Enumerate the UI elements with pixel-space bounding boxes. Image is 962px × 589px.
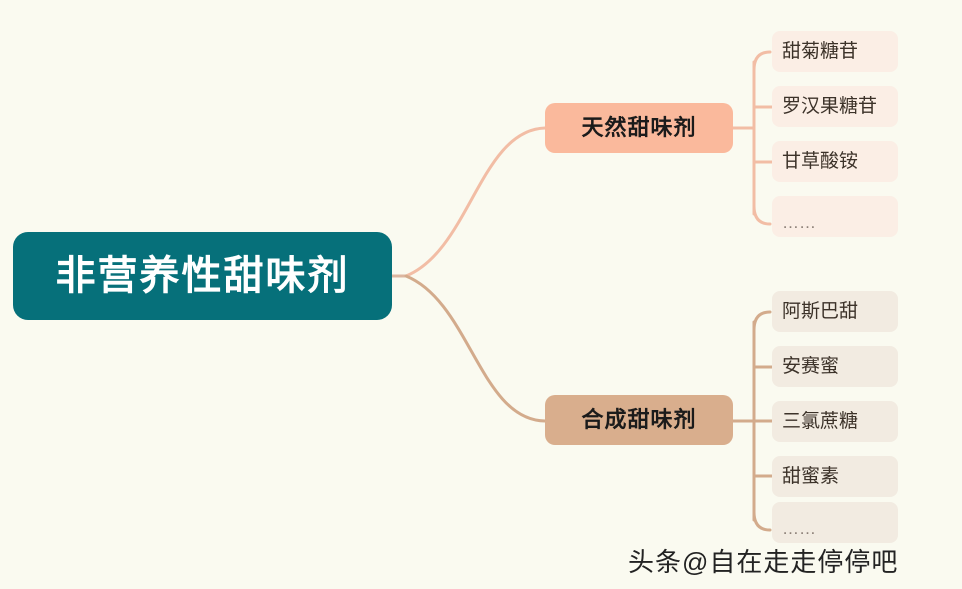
connector-root-to-natural: [406, 128, 545, 276]
leaf-node-synthetic-1-label: 阿斯巴甜: [782, 302, 858, 321]
leaf-node-natural-1[interactable]: 甜菊糖苷: [772, 31, 898, 72]
leaf-node-synthetic-4[interactable]: 甜蜜素: [772, 456, 898, 497]
leaf-node-natural-4-label: ……: [782, 214, 816, 237]
watermark-text: 头条@自在走走停停吧: [628, 542, 898, 579]
leaf-node-synthetic-1[interactable]: 阿斯巴甜: [772, 291, 898, 332]
leaf-node-synthetic-2[interactable]: 安赛蜜: [772, 346, 898, 387]
leaf-node-synthetic-3[interactable]: 三氯蔗糖: [772, 401, 898, 442]
leaf-node-natural-2-label: 罗汉果糖苷: [782, 97, 877, 116]
connector-synthetic-elbow-5: [754, 512, 770, 530]
connector-root-to-synthetic: [406, 276, 545, 421]
leaf-node-natural-3[interactable]: 甘草酸铵: [772, 141, 898, 182]
root-node-label: 非营养性甜味剂: [56, 256, 350, 296]
leaf-node-natural-3-label: 甘草酸铵: [782, 152, 858, 171]
connector-natural-elbow-4: [754, 206, 770, 224]
branch-node-natural-label: 天然甜味剂: [581, 117, 696, 139]
leaf-node-synthetic-5-label: ……: [782, 520, 816, 543]
leaf-node-synthetic-5[interactable]: ……: [772, 502, 898, 543]
mindmap-canvas: 非营养性甜味剂 天然甜味剂 甜菊糖苷 罗汉果糖苷 甘草酸铵 …… 合成甜味剂 阿…: [0, 0, 962, 589]
connector-synthetic-elbow-1: [754, 312, 770, 330]
connector-natural-elbow-1: [754, 52, 770, 70]
leaf-node-synthetic-4-label: 甜蜜素: [782, 467, 839, 486]
root-node[interactable]: 非营养性甜味剂: [13, 232, 392, 320]
leaf-node-synthetic-2-label: 安赛蜜: [782, 357, 839, 376]
branch-node-synthetic[interactable]: 合成甜味剂: [545, 395, 733, 445]
leaf-node-natural-4[interactable]: ……: [772, 196, 898, 237]
leaf-node-natural-2[interactable]: 罗汉果糖苷: [772, 86, 898, 127]
branch-node-synthetic-label: 合成甜味剂: [581, 409, 696, 431]
leaf-node-natural-1-label: 甜菊糖苷: [782, 42, 858, 61]
branch-node-natural[interactable]: 天然甜味剂: [545, 103, 733, 153]
leaf-node-synthetic-3-label: 三氯蔗糖: [782, 412, 858, 431]
